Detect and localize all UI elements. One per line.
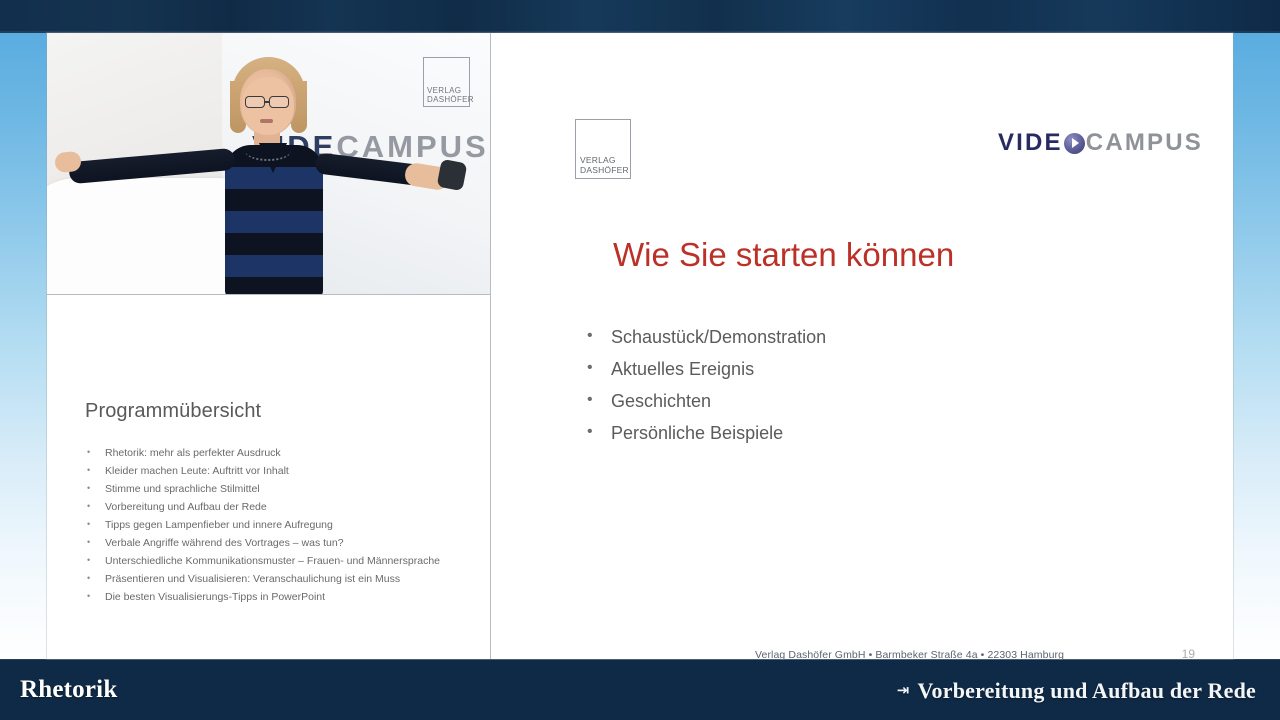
list-item: Aktuelles Ereignis (573, 353, 1173, 385)
list-item[interactable]: Tipps gegen Lampenfieber und innere Aufr… (85, 517, 475, 535)
wall-verlag-dashoefer-text: VERLAGDASHÖFER (427, 86, 474, 104)
presenter-glasses-left-lens (245, 96, 265, 108)
presenter-necklace (245, 141, 291, 161)
slide-verlag-dashoefer-logo: VERLAGDASHÖFER (575, 119, 631, 179)
play-circle-icon (1064, 133, 1085, 154)
slide-bullet-list: Schaustück/Demonstration Aktuelles Ereig… (573, 321, 1173, 449)
video-player-stage: VIDECAMPUS VERLAGDASHÖFER Programmübersi… (0, 0, 1280, 720)
slide-videocampus-logo: VIDE CAMPUS (998, 129, 1203, 157)
wall-verlag-dashoefer-logo: VERLAGDASHÖFER (423, 57, 470, 107)
list-item[interactable]: Die besten Visualisierungs-Tipps in Powe… (85, 589, 475, 607)
arrow-to-line-icon: ⇥ (897, 681, 910, 699)
list-item[interactable]: Präsentieren und Visualisieren: Veransch… (85, 571, 475, 589)
list-item[interactable]: Vorbereitung und Aufbau der Rede (85, 499, 475, 517)
chapter-title-group: ⇥ Vorbereitung und Aufbau der Rede (897, 678, 1256, 704)
bottom-title-bar: Rhetorik ⇥ Vorbereitung und Aufbau der R… (0, 659, 1280, 720)
list-item: Schaustück/Demonstration (573, 321, 1173, 353)
list-item: Geschichten (573, 385, 1173, 417)
slide-card: VIDECAMPUS VERLAGDASHÖFER Programmübersi… (47, 33, 1233, 659)
top-letterbox-bar (0, 0, 1280, 33)
list-item[interactable]: Verbale Angriffe während des Vortrages –… (85, 535, 475, 553)
program-overview-list: Rhetorik: mehr als perfekter Ausdruck Kl… (85, 445, 475, 607)
program-overview-panel: Programmübersicht Rhetorik: mehr als per… (47, 295, 490, 659)
presenter-mouth (260, 119, 273, 123)
logo-text-gray: CAMPUS (1086, 129, 1203, 157)
slide-title: Wie Sie starten können (613, 236, 954, 274)
list-item[interactable]: Rhetorik: mehr als perfekter Ausdruck (85, 445, 475, 463)
list-item[interactable]: Stimme und sprachliche Stilmittel (85, 481, 475, 499)
program-overview-heading: Programmübersicht (85, 400, 261, 423)
course-title: Rhetorik (20, 676, 117, 704)
list-item[interactable]: Unterschiedliche Kommunikationsmuster – … (85, 553, 475, 571)
logo-text-dark: VIDE (998, 129, 1063, 157)
presenter-video[interactable]: VIDECAMPUS VERLAGDASHÖFER (47, 33, 490, 295)
presenter-glasses-right-lens (269, 96, 289, 108)
presenter-glasses-bridge (265, 101, 270, 103)
presentation-slide: VERLAGDASHÖFER VIDE CAMPUS Wie Sie start… (491, 33, 1233, 659)
list-item: Persönliche Beispiele (573, 417, 1173, 449)
slide-verlag-dashoefer-text: VERLAGDASHÖFER (580, 155, 629, 175)
chapter-title: Vorbereitung und Aufbau der Rede (917, 678, 1256, 704)
list-item[interactable]: Kleider machen Leute: Auftritt vor Inhal… (85, 463, 475, 481)
